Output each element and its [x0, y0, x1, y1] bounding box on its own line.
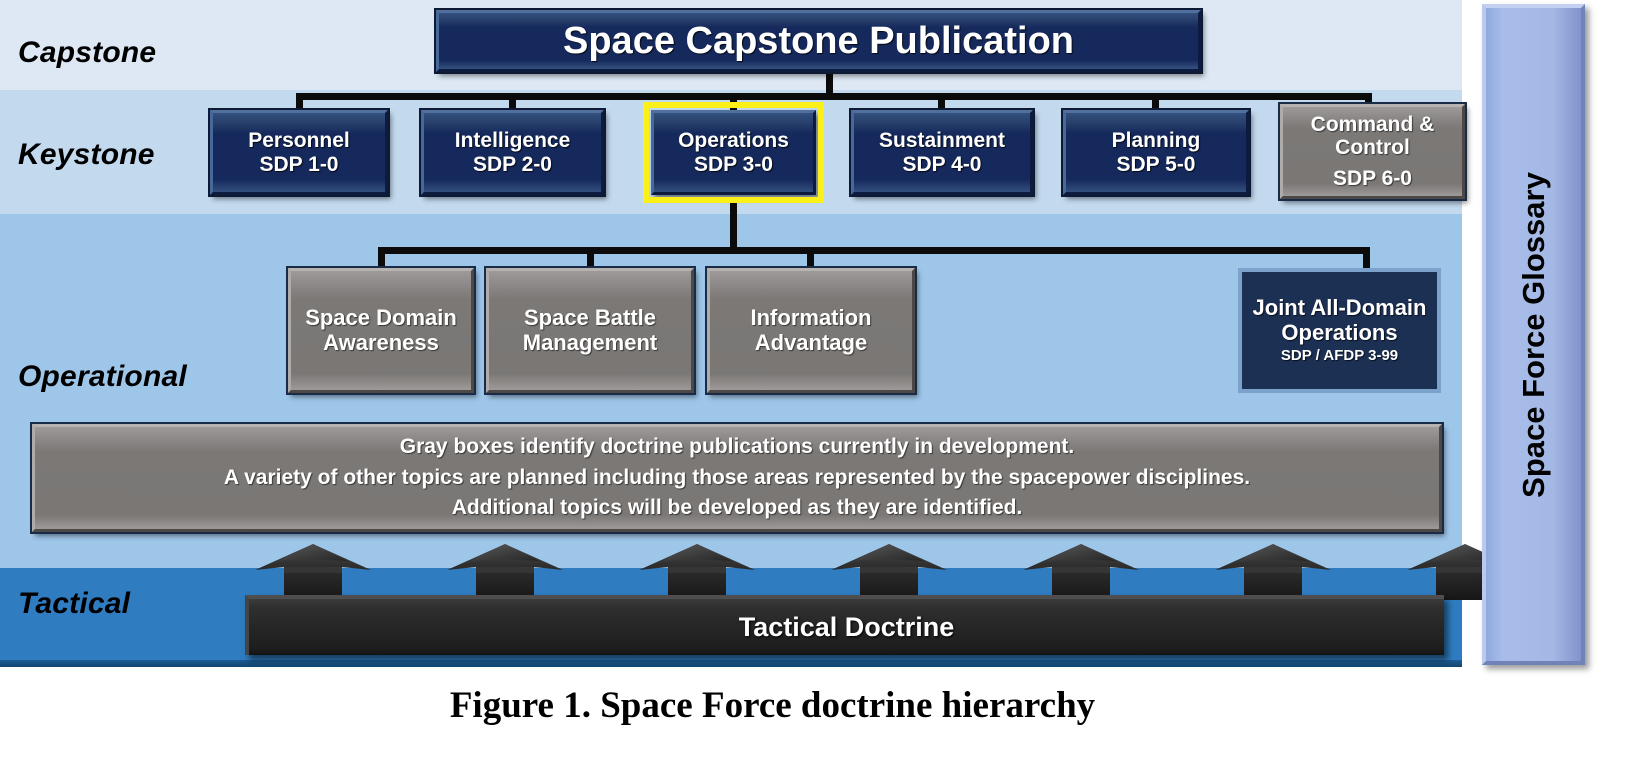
- capstone-publication-box[interactable]: Space Capstone Publication: [436, 10, 1201, 72]
- keystone-box-planning[interactable]: Planning SDP 5-0: [1063, 110, 1249, 195]
- note-line-3: Additional topics will be developed as t…: [452, 493, 1023, 523]
- connector-operations-stem: [730, 198, 737, 250]
- capstone-title: Space Capstone Publication: [563, 20, 1074, 63]
- operational-box-space-battle-management[interactable]: Space Battle Management: [486, 268, 694, 393]
- operational-title-space-battle-management: Space Battle Management: [489, 306, 691, 355]
- glossary-label: Space Force Glossary: [1516, 172, 1552, 498]
- tactical-doctrine-label: Tactical Doctrine: [739, 612, 955, 643]
- keystone-box-sustainment[interactable]: Sustainment SDP 4-0: [851, 110, 1033, 195]
- keystone-title-sustainment: Sustainment: [879, 129, 1005, 153]
- keystone-title-operations: Operations: [678, 129, 789, 153]
- keystone-pub-intelligence: SDP 2-0: [473, 153, 552, 177]
- tactical-arrow-icon: [446, 540, 564, 602]
- row-label-operational: Operational: [18, 360, 187, 394]
- keystone-box-operations[interactable]: Operations SDP 3-0: [651, 110, 816, 195]
- row-label-capstone: Capstone: [18, 36, 156, 70]
- row-label-tactical: Tactical: [18, 587, 130, 621]
- keystone-pub-command-and-control: SDP 6-0: [1333, 167, 1412, 191]
- keystone-pub-sustainment: SDP 4-0: [903, 153, 982, 177]
- keystone-box-intelligence[interactable]: Intelligence SDP 2-0: [421, 110, 604, 195]
- operational-title-information-advantage: Information Advantage: [710, 306, 912, 355]
- tactical-doctrine-bar[interactable]: Tactical Doctrine: [245, 595, 1444, 655]
- operational-title-joint-all-domain-operations: Joint All-Domain Operations: [1242, 296, 1437, 345]
- keystone-title-intelligence: Intelligence: [455, 129, 571, 153]
- row-label-keystone: Keystone: [18, 138, 155, 172]
- tactical-arrow-icon: [638, 540, 756, 602]
- keystone-title-personnel: Personnel: [248, 129, 350, 153]
- tactical-arrow-icon: [254, 540, 372, 602]
- keystone-title-command-and-control: Command & Control: [1283, 113, 1462, 160]
- operational-box-joint-all-domain-operations[interactable]: Joint All-Domain Operations SDP / AFDP 3…: [1238, 268, 1441, 393]
- development-note-box: Gray boxes identify doctrine publication…: [32, 424, 1442, 532]
- doctrine-hierarchy-figure: Capstone Keystone Operational Tactical S…: [0, 0, 1638, 770]
- operational-box-information-advantage[interactable]: Information Advantage: [707, 268, 915, 393]
- keystone-pub-personnel: SDP 1-0: [260, 153, 339, 177]
- keystone-pub-operations: SDP 3-0: [694, 153, 773, 177]
- figure-caption: Figure 1. Space Force doctrine hierarchy: [0, 684, 1545, 727]
- operational-box-space-domain-awareness[interactable]: Space Domain Awareness: [288, 268, 474, 393]
- tactical-arrow-icon: [830, 540, 948, 602]
- connector-keystone-bus: [296, 93, 1372, 100]
- note-line-1: Gray boxes identify doctrine publication…: [400, 432, 1074, 462]
- space-force-glossary-bar[interactable]: Space Force Glossary: [1482, 4, 1585, 665]
- keystone-pub-planning: SDP 5-0: [1117, 153, 1196, 177]
- keystone-box-command-and-control[interactable]: Command & Control SDP 6-0: [1280, 104, 1465, 199]
- keystone-box-personnel[interactable]: Personnel SDP 1-0: [210, 110, 388, 195]
- operational-pub-joint-all-domain-operations: SDP / AFDP 3-99: [1281, 348, 1398, 365]
- operational-title-space-domain-awareness: Space Domain Awareness: [291, 306, 471, 355]
- note-line-2: A variety of other topics are planned in…: [224, 463, 1250, 493]
- tactical-arrow-icon: [1022, 540, 1140, 602]
- tactical-arrow-icon: [1214, 540, 1332, 602]
- keystone-title-planning: Planning: [1112, 129, 1201, 153]
- bottom-rule: [0, 660, 1462, 667]
- connector-operational-bus: [378, 247, 1370, 254]
